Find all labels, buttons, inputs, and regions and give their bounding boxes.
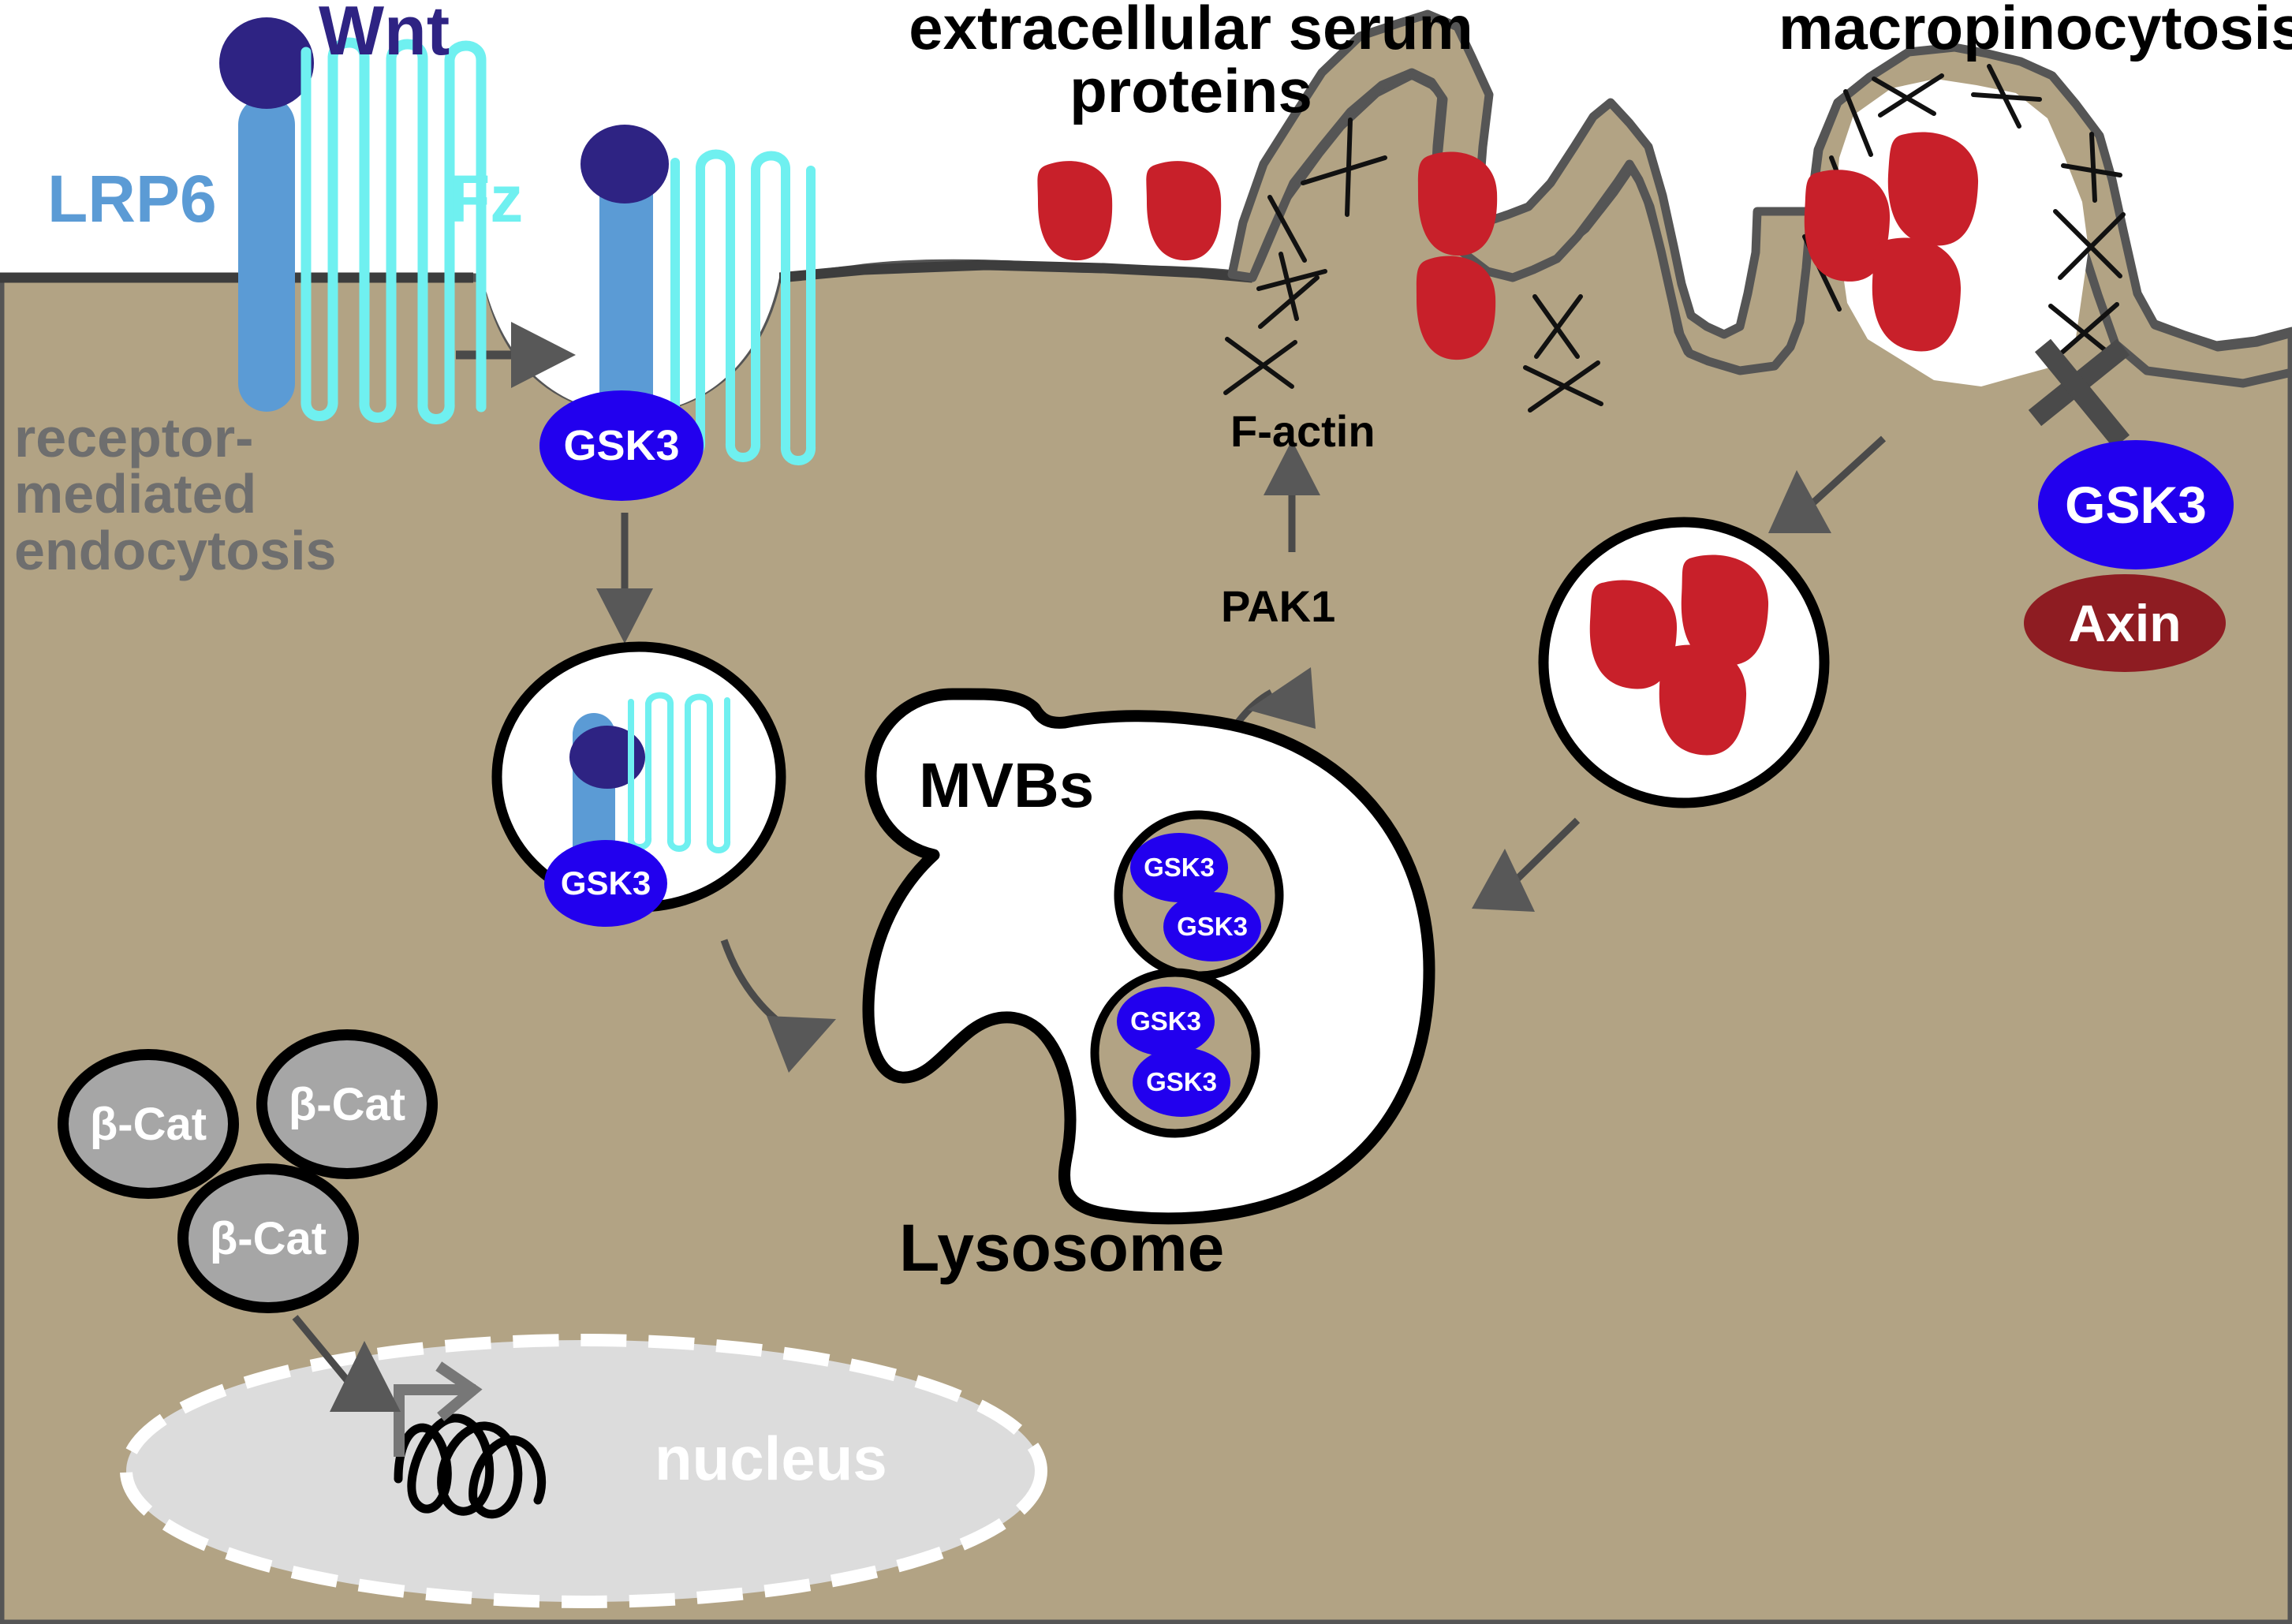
lrp6-bar xyxy=(238,96,295,412)
label-macropinocytosis: macropinocytosis xyxy=(1779,0,2292,60)
label-f-actin: F-actin xyxy=(1230,409,1376,454)
label-extracellular-serum-proteins: extracellular serum proteins xyxy=(899,0,1483,122)
label-lrp6: LRP6 xyxy=(47,166,217,233)
wnt-ligand-pit-icon xyxy=(580,125,669,203)
nucleus xyxy=(126,1340,1041,1602)
label-pak1: PAK1 xyxy=(1221,584,1335,629)
label-mvbs: MVBs xyxy=(919,753,1094,818)
label-nucleus: nucleus xyxy=(655,1428,887,1491)
axin-shape xyxy=(2024,574,2226,672)
diagram-canvas: Wnt LRP6 Fz receptor- mediated endocytos… xyxy=(0,0,2292,1624)
label-wnt: Wnt xyxy=(319,0,450,66)
wnt-ligand-icon xyxy=(219,17,314,109)
label-receptor-mediated-endocytosis: receptor- mediated endocytosis xyxy=(14,410,336,579)
label-fz: Fz xyxy=(450,166,523,233)
label-lysosome: Lysosome xyxy=(899,1215,1224,1282)
